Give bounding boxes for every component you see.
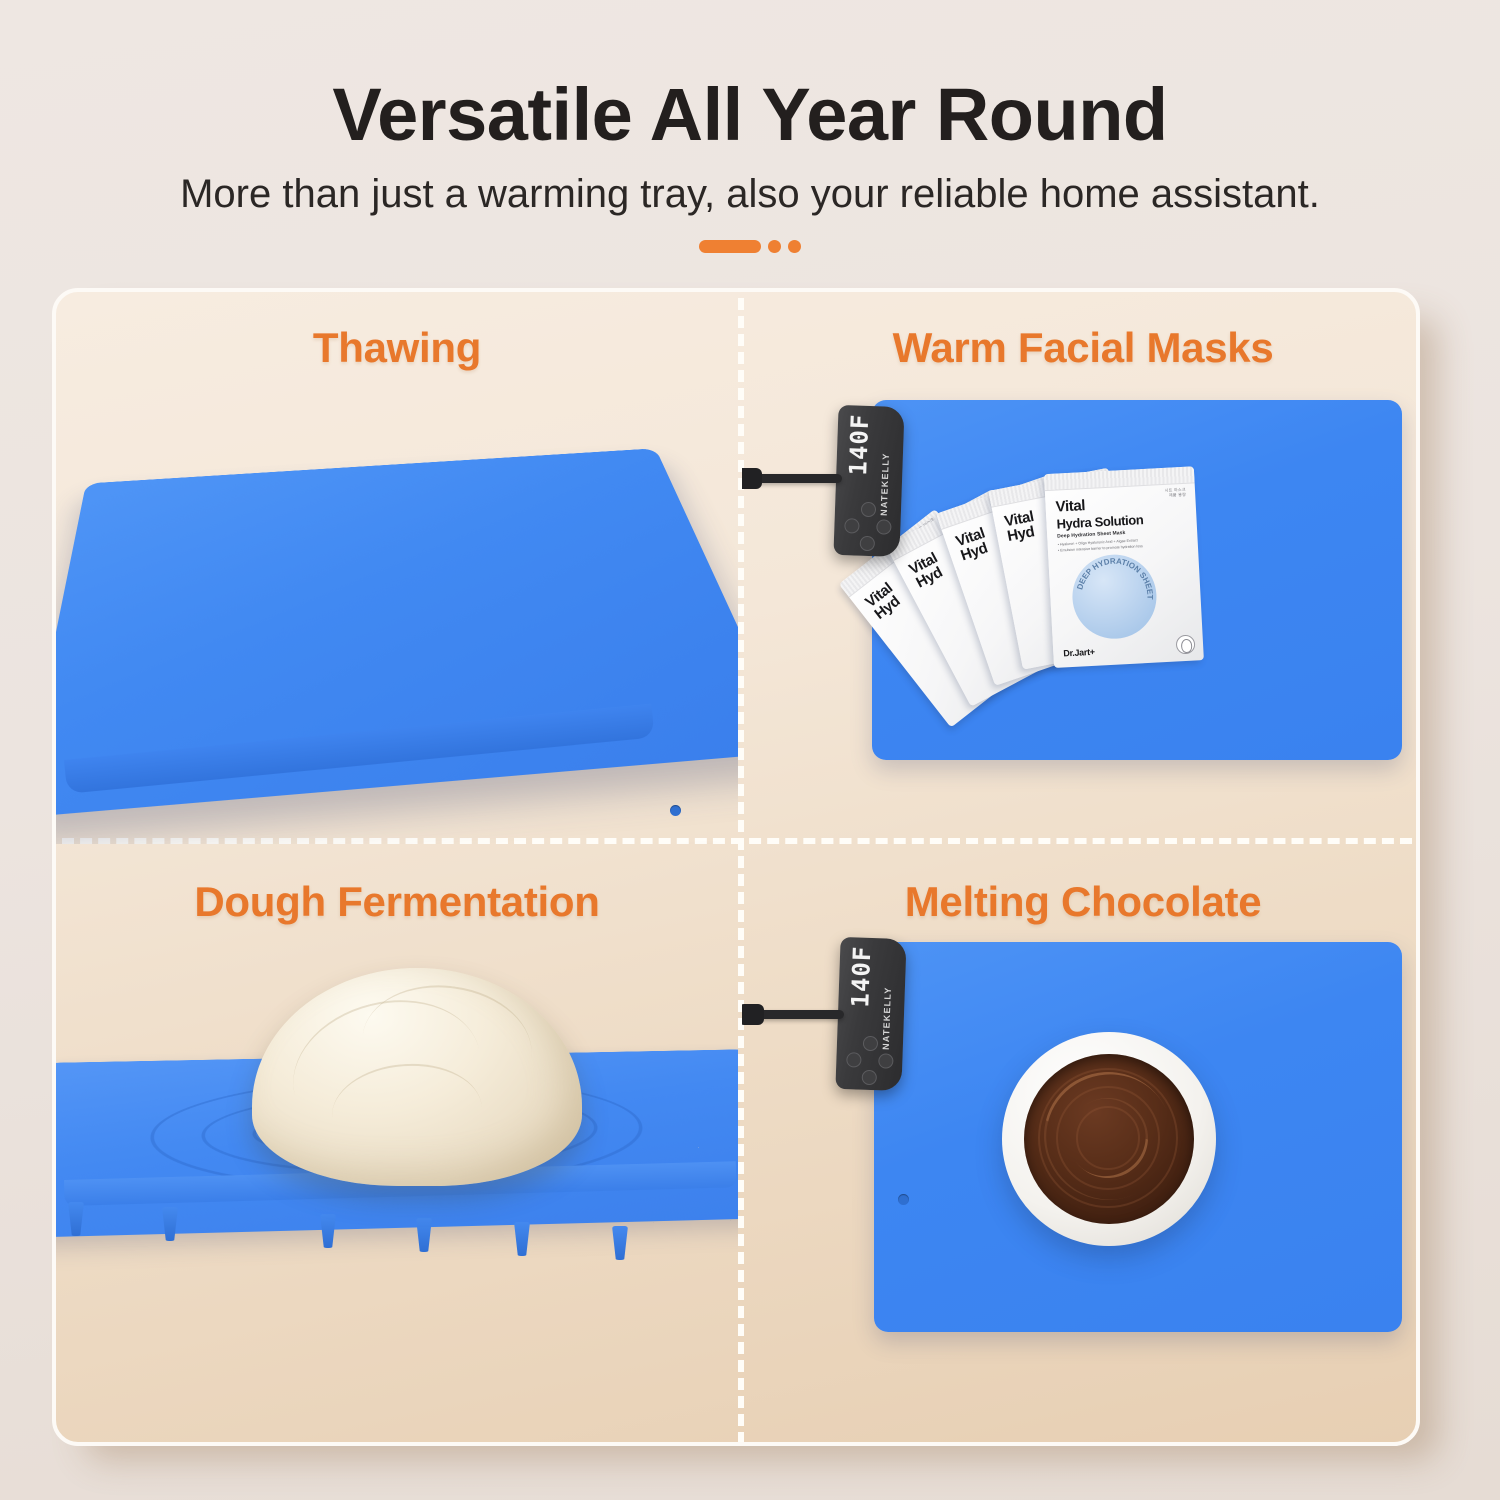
controller-minus-button[interactable]	[844, 518, 860, 534]
quadrant-label-warm-facial-masks: Warm Facial Masks	[742, 324, 1420, 372]
packet-bullets: • Hyaluron + Oligo Hyaluronic Acid + Alg…	[1058, 538, 1143, 554]
controller-temperature-display: 140F	[846, 945, 876, 1008]
controller-plus-button[interactable]	[876, 519, 892, 535]
temperature-controller[interactable]: 140F NATEKELLY	[835, 937, 906, 1091]
melted-chocolate	[1024, 1054, 1194, 1224]
controller-button-group[interactable]	[846, 1035, 896, 1085]
mat-foot	[320, 1214, 336, 1248]
packet-title-line1: Vital	[1055, 498, 1085, 515]
mask-packet-fan: 시트 마스크제품 용량 VitalHyd 시트 마스크제품 용량 VitalHy…	[938, 456, 1218, 686]
packet-brand: Dr.Jart+	[1063, 647, 1095, 659]
controller-timer-button[interactable]	[862, 1070, 878, 1086]
divider-dot-1	[768, 240, 781, 253]
packet-hydration-circle: DEEP HYDRATION SHEET	[1070, 553, 1158, 641]
controller-minus-button[interactable]	[846, 1052, 862, 1068]
packet-subtitle: Deep Hydration Sheet Mask	[1057, 530, 1126, 540]
packet-title-short: VitalHyd	[954, 526, 992, 565]
mat-foot	[162, 1207, 178, 1241]
controller-timer-button[interactable]	[860, 536, 876, 552]
page-title: Versatile All Year Round	[0, 78, 1500, 152]
packet-title-short: VitalHyd	[1003, 509, 1038, 545]
packet-title-line2: Hydra Solution	[1056, 512, 1144, 532]
mat-led-indicator	[898, 1194, 909, 1205]
temperature-controller[interactable]: 140F NATEKELLY	[833, 405, 904, 557]
power-cord	[750, 474, 842, 483]
quadrant-thawing: Thawing	[56, 292, 738, 844]
quadrant-label-dough-fermentation: Dough Fermentation	[56, 878, 738, 926]
quadrant-dough-fermentation: Dough Fermentation	[56, 850, 738, 1446]
power-plug	[742, 468, 762, 489]
quadrant-melting-chocolate: Melting Chocolate 140F NATEKELLY	[742, 850, 1420, 1446]
packet-korean-text: 시트 마스크제품 용량	[1165, 487, 1187, 498]
controller-temperature-display: 140F	[844, 413, 874, 476]
face-mask-icon	[1176, 635, 1196, 655]
divider-bar	[699, 240, 761, 253]
controller-button-group[interactable]	[844, 501, 894, 551]
controller-power-button[interactable]	[863, 1036, 879, 1052]
power-plug	[742, 1004, 764, 1025]
mat-foot	[612, 1226, 628, 1260]
quadrant-warm-facial-masks: Warm Facial Masks 시트 마스크제품 용량 VitalHyd 시…	[742, 292, 1420, 844]
controller-plus-button[interactable]	[878, 1053, 894, 1069]
quadrant-label-thawing: Thawing	[56, 324, 738, 372]
quadrant-label-melting-chocolate: Melting Chocolate	[742, 878, 1420, 926]
controller-power-button[interactable]	[861, 502, 877, 518]
feature-panel: Thawing	[52, 288, 1420, 1446]
packet-title-short: VitalHyd	[863, 580, 905, 622]
mat-led-indicator	[670, 805, 681, 816]
packet-circle-text: DEEP HYDRATION SHEET	[1070, 553, 1158, 641]
mat-foot	[416, 1218, 432, 1252]
chocolate-bowl	[1002, 1032, 1216, 1246]
header: Versatile All Year Round More than just …	[0, 0, 1500, 272]
infographic-page: Versatile All Year Round More than just …	[0, 0, 1500, 1500]
mask-packet-front: 시트 마스크제품 용량 Vital Hydra Solution Deep Hy…	[1044, 466, 1204, 668]
packet-title-short: VitalHyd	[907, 550, 947, 591]
divider-ornament	[0, 238, 1500, 254]
svg-text:DEEP HYDRATION SHEET: DEEP HYDRATION SHEET	[1074, 555, 1155, 604]
power-cord	[752, 1010, 844, 1019]
mat-foot	[514, 1222, 530, 1256]
divider-dot-2	[788, 240, 801, 253]
page-subtitle: More than just a warming tray, also your…	[0, 172, 1500, 216]
bread-dough	[252, 968, 582, 1186]
